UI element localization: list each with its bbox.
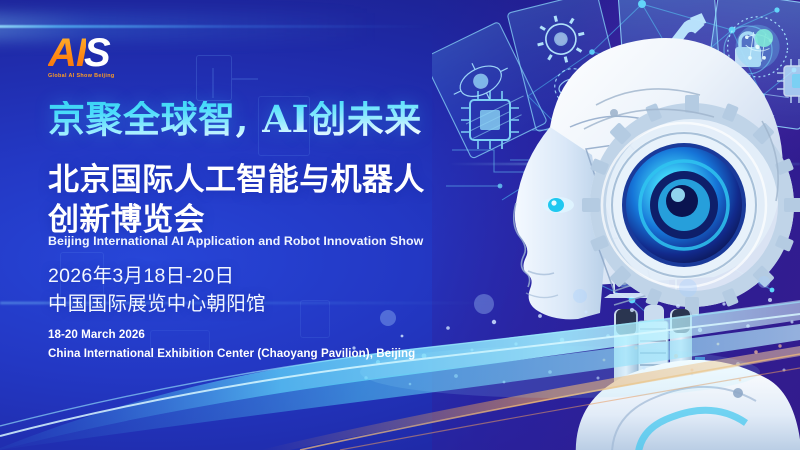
event-title-chinese: 北京国际人工智能与机器人 创新博览会 <box>48 160 425 241</box>
ais-logo[interactable]: AI S Global AI Show Beijing <box>48 34 115 79</box>
event-date-chinese: 2026年3月18日-20日 <box>48 263 266 291</box>
event-venue-english: China International Exhibition Center (C… <box>48 344 415 363</box>
event-title-chinese-line1: 北京国际人工智能与机器人 <box>48 160 425 200</box>
event-date-venue-chinese: 2026年3月18日-20日 中国国际展览中心朝阳馆 <box>48 263 266 318</box>
logo-wordmark: AI S <box>48 34 115 72</box>
event-venue-chinese: 中国国际展览中心朝阳馆 <box>48 291 266 319</box>
event-promo-banner: AI S Global AI Show Beijing 京聚全球智, AI创未来… <box>0 0 800 450</box>
logo-ai-text: AI <box>48 34 86 72</box>
event-date-venue-english: 18-20 March 2026 China International Exh… <box>48 325 415 364</box>
robot-face-eye-icon <box>542 197 574 213</box>
logo-s-text: S <box>84 34 110 72</box>
headline-chinese: 京聚全球智, AI创未来 <box>48 101 422 138</box>
logo-tagline: Global AI Show Beijing <box>48 73 115 79</box>
event-date-english: 18-20 March 2026 <box>48 325 415 344</box>
banner-text-block: AI S Global AI Show Beijing 京聚全球智, AI创未来… <box>48 0 518 450</box>
event-subtitle-english: Beijing International AI Application and… <box>48 234 423 248</box>
